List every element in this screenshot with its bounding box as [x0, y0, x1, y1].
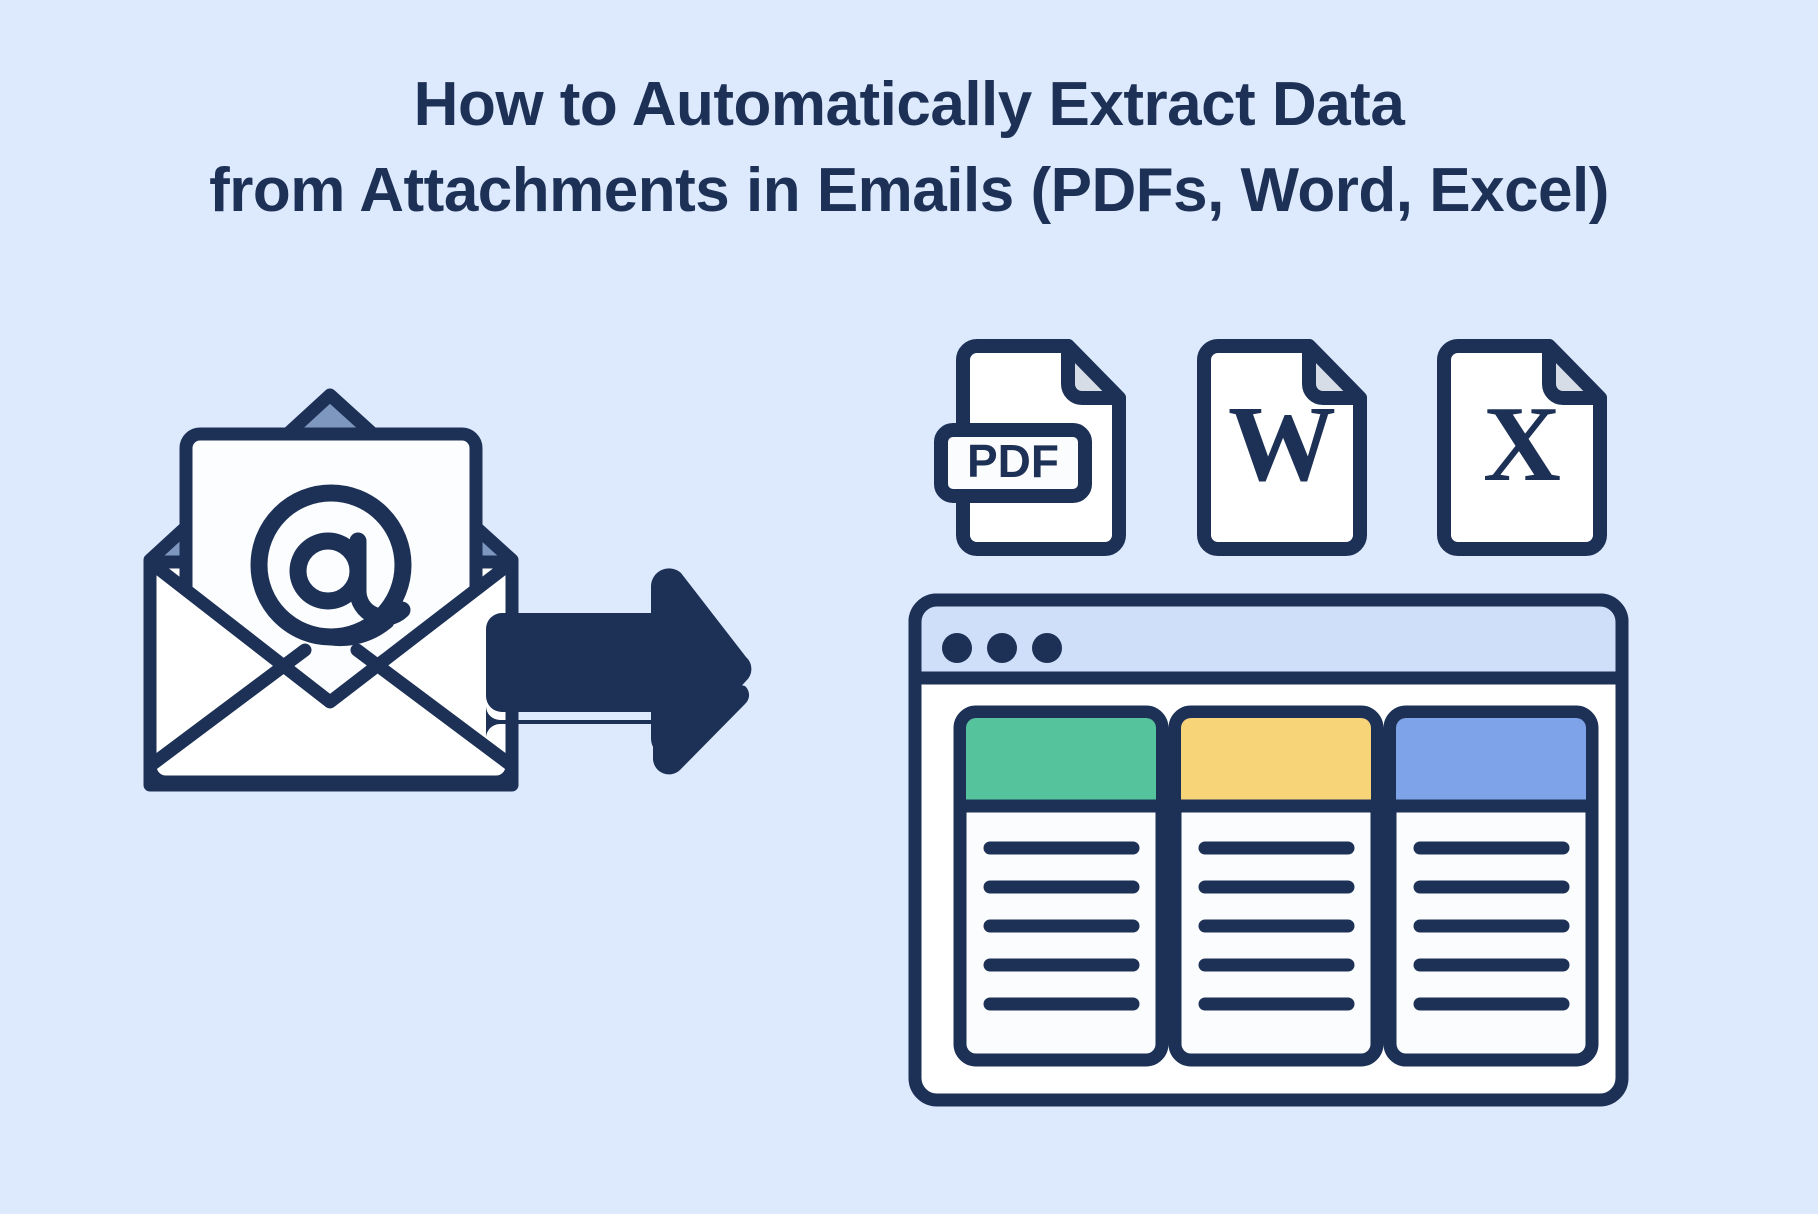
excel-label: X — [1483, 385, 1561, 504]
column-2-rows — [1205, 848, 1348, 1004]
page-title-line-1: How to Automatically Extract Data — [0, 62, 1818, 148]
pdf-label: PDF — [967, 435, 1059, 487]
table-column-2 — [1175, 712, 1377, 1060]
pdf-label-plate — [941, 430, 1085, 496]
at-symbol — [259, 493, 403, 638]
right-arrow-body — [486, 568, 751, 756]
app-window-frame — [915, 600, 1622, 1100]
excel-page-fold — [1549, 346, 1600, 398]
column-1-header — [966, 718, 1156, 806]
excel-page-shape — [1444, 346, 1600, 549]
envelope-back-flap — [150, 395, 512, 785]
pdf-page-fold — [1068, 346, 1119, 398]
envelope-body — [150, 562, 512, 782]
envelope-fold-left — [150, 650, 305, 766]
page-title: How to Automatically Extract Data from A… — [0, 62, 1818, 233]
word-label: W — [1228, 385, 1336, 504]
page-title-line-2: from Attachments in Emails (PDFs, Word, … — [0, 148, 1818, 234]
window-dot-2 — [987, 633, 1017, 663]
word-file-icon: W — [1204, 346, 1360, 549]
envelope-letter-card — [186, 434, 476, 782]
column-3-card — [1390, 712, 1592, 1060]
right-arrow-icon — [486, 667, 749, 775]
pdf-page-shape — [963, 346, 1119, 549]
excel-file-icon: X — [1444, 346, 1600, 549]
column-3-rows — [1420, 848, 1563, 1004]
table-column-3 — [1390, 712, 1592, 1060]
pdf-file-icon: PDF — [941, 346, 1119, 549]
envelope-fold-right — [357, 650, 512, 766]
illustration-canvas: How to Automatically Extract Data from A… — [0, 0, 1818, 1214]
window-dot-3 — [1032, 633, 1062, 663]
envelope-front-left — [150, 562, 512, 782]
table-column-1 — [960, 712, 1162, 1060]
word-page-fold — [1309, 346, 1360, 398]
window-dot-1 — [942, 633, 972, 663]
column-1-card — [960, 712, 1162, 1060]
app-window-titlebar — [915, 600, 1622, 678]
column-2-header — [1181, 718, 1371, 806]
word-page-shape — [1204, 346, 1360, 549]
column-2-card — [1175, 712, 1377, 1060]
app-window — [915, 600, 1622, 1100]
column-1-rows — [990, 848, 1133, 1004]
column-3-header — [1396, 718, 1586, 806]
